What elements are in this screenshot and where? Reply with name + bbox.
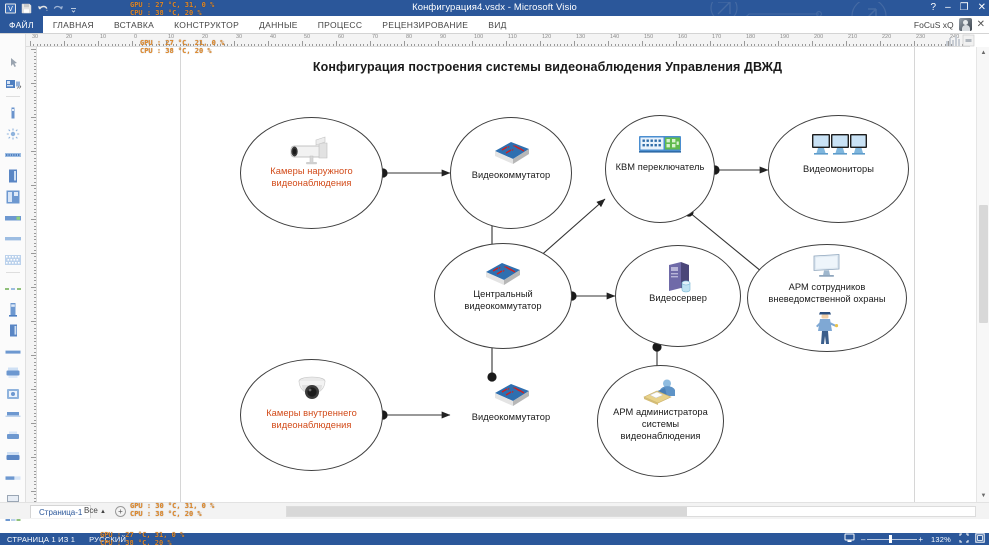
ruler-tick	[805, 44, 806, 47]
ruler-tick	[550, 44, 551, 47]
ruler-label: 230	[916, 34, 925, 40]
node-label-line2: видеонаблюдения	[240, 178, 383, 190]
ruler-tick	[34, 280, 37, 281]
ruler-tick	[656, 44, 657, 47]
ruler-tick	[503, 44, 504, 47]
stencil-item-switch-device[interactable]	[0, 207, 26, 228]
zoom-slider-knob[interactable]	[889, 535, 892, 543]
ruler-tick	[105, 44, 106, 47]
ruler-tick	[91, 44, 92, 47]
ruler-tick	[34, 69, 37, 70]
ruler-tick	[34, 124, 37, 125]
ruler-tick	[31, 355, 36, 356]
ruler-label: 50	[304, 34, 310, 40]
stencil-item-drive-bay[interactable]	[0, 341, 26, 362]
ruler-label: 40	[270, 34, 276, 40]
tab-process[interactable]: ПРОЦЕСС	[308, 16, 373, 33]
close-button[interactable]: ✕	[978, 1, 986, 14]
ruler-tick	[34, 345, 37, 346]
ruler-tick	[390, 44, 391, 47]
ruler-tick	[543, 44, 544, 47]
ruler-tick	[316, 44, 317, 47]
ruler-tick	[802, 44, 803, 47]
ruler-tick	[34, 318, 37, 319]
ruler-tick	[601, 44, 602, 47]
ruler-tick	[34, 90, 37, 91]
ruler-tick	[832, 44, 833, 47]
ruler-tick	[34, 260, 37, 261]
ruler-tick	[401, 44, 402, 47]
ruler-tick	[435, 44, 436, 47]
page-tab-1[interactable]: Страница-1	[30, 505, 91, 518]
ruler-tick	[428, 44, 429, 47]
ruler-tick	[707, 44, 708, 47]
ruler-tick	[894, 44, 895, 47]
ruler-tick	[34, 205, 37, 206]
ruler-tick	[761, 44, 762, 47]
node-label: Видеокоммутатор	[450, 170, 572, 182]
ruler-tick	[445, 44, 446, 47]
ruler-tick	[265, 44, 266, 47]
node-outdoor-cameras[interactable]: Камеры наружного видеонаблюдения	[240, 117, 383, 229]
ruler-tick	[95, 44, 96, 47]
ruler-tick	[241, 44, 242, 47]
node-indoor-cameras[interactable]: Камеры внутреннего видеонаблюдения	[240, 359, 383, 471]
ruler-tick	[227, 44, 228, 47]
dome-camera-icon	[289, 375, 335, 412]
ruler-tick	[713, 44, 714, 47]
ruler-tick	[594, 44, 595, 47]
rack-unit-icon	[5, 77, 21, 91]
ruler-tick	[234, 41, 235, 46]
scanner-icon	[5, 387, 21, 401]
ruler-label: 90	[440, 34, 446, 40]
ruler-tick	[747, 44, 748, 47]
ruler-tick	[34, 80, 37, 81]
stencil-item-modem[interactable]	[0, 467, 26, 488]
node-security-guard-workstation[interactable]: АРМ сотрудников вневедомственной охраны	[747, 244, 907, 352]
ruler-tick	[537, 44, 538, 47]
account-area: FoCuS xQ ✕	[914, 16, 985, 33]
ruler-tick	[897, 44, 898, 47]
ruler-tick	[34, 498, 37, 499]
ruler-tick	[34, 304, 37, 305]
page-count-label[interactable]: СТРАНИЦА 1 ИЗ 1	[0, 535, 82, 544]
ruler-tick	[547, 44, 548, 47]
ruler-tick	[911, 44, 912, 47]
ruler-tick	[34, 382, 37, 383]
ruler-tick	[34, 454, 37, 455]
stencil-item-pointer[interactable]	[0, 52, 26, 73]
ruler-tick	[826, 44, 827, 47]
ruler-tick	[683, 44, 684, 47]
ruler-tick	[917, 44, 918, 47]
minimize-button[interactable]: –	[945, 1, 951, 14]
ruler-tick	[458, 44, 459, 47]
stencil-item-plotter[interactable]	[0, 425, 26, 446]
ruler-tick	[921, 44, 922, 47]
ruler-tick	[567, 44, 568, 47]
switch-device-icon	[4, 213, 22, 223]
ruler-tick	[394, 44, 395, 47]
ruler-tick	[34, 464, 37, 465]
ruler-tick	[856, 44, 857, 47]
ruler-tick	[50, 44, 51, 47]
node-kvm-switch[interactable]: КВМ переключатель	[605, 115, 715, 223]
full-screen-icon[interactable]	[975, 533, 985, 545]
tab-view[interactable]: ВИД	[478, 16, 516, 33]
ruler-tick	[649, 44, 650, 47]
ruler-tick	[34, 314, 37, 315]
ruler-tick	[34, 195, 37, 196]
ruler-tick	[34, 335, 37, 336]
ruler-tick	[34, 328, 37, 329]
ruler-tick	[34, 284, 37, 285]
tab-insert[interactable]: ВСТАВКА	[104, 16, 164, 33]
stencil-item-copier[interactable]	[0, 446, 26, 467]
ruler-tick	[669, 44, 670, 47]
horizontal-scrollbar-thumb[interactable]	[287, 507, 687, 516]
ruler-tick	[887, 44, 888, 47]
ruler-label: 110	[508, 34, 517, 40]
all-pages-button[interactable]: Все ▲	[84, 506, 106, 515]
ruler-tick	[34, 406, 37, 407]
network-switch-icon	[481, 258, 525, 293]
ruler-tick	[367, 44, 368, 47]
ruler-tick	[261, 44, 262, 47]
ruler-tick	[268, 41, 269, 46]
ruler-tick	[71, 44, 72, 47]
ruler-tick	[61, 44, 62, 47]
ruler-tick	[836, 44, 837, 47]
ruler-tick	[914, 41, 915, 46]
ruler-tick	[441, 44, 442, 47]
ruler-tick	[571, 44, 572, 47]
stencil-item-rack-unit[interactable]	[0, 73, 26, 94]
ruler-label: 220	[882, 34, 891, 40]
stencil-item-ups[interactable]	[0, 299, 26, 320]
ruler-tick	[34, 433, 37, 434]
ruler-tick	[34, 365, 37, 366]
ruler-tick	[34, 263, 37, 264]
tab-home[interactable]: ГЛАВНАЯ	[43, 16, 104, 33]
ruler-tick	[931, 44, 932, 47]
guard-person-icon	[811, 308, 841, 349]
visio-window: V Конфигурация4.vsdx - Microsoft Visio ?…	[0, 0, 989, 545]
stencil-item-blade[interactable]	[0, 228, 26, 249]
scroll-up-arrow[interactable]: ▲	[977, 47, 989, 59]
ruler-tick	[34, 86, 37, 87]
ruler-tick	[557, 44, 558, 47]
ruler-tick	[574, 41, 575, 46]
ruler-tick	[411, 44, 412, 47]
ruler-tick	[31, 491, 36, 492]
zoom-slider[interactable]: – +	[861, 534, 923, 544]
window-controls: ? – ❐ ✕	[931, 1, 986, 14]
stencil-item-grid-panel[interactable]	[0, 249, 26, 270]
ruler-tick	[703, 44, 704, 47]
ruler-tick	[322, 44, 323, 47]
ruler-label: 140	[610, 34, 619, 40]
ruler-tick	[693, 44, 694, 47]
ruler-tick	[812, 41, 813, 46]
ruler-tick	[34, 460, 37, 461]
ruler-tick	[67, 44, 68, 47]
ruler-tick	[564, 44, 565, 47]
ruler-tick	[31, 117, 36, 118]
status-bar-right: – + 132%	[844, 533, 985, 545]
ruler-tick	[47, 44, 48, 47]
laptop-icon	[4, 410, 22, 419]
zoom-out-button[interactable]: –	[861, 535, 865, 544]
ruler-tick	[31, 423, 36, 424]
ribbon-close-icon[interactable]: ✕	[977, 19, 985, 30]
ruler-tick	[455, 44, 456, 47]
ruler-tick	[360, 44, 361, 47]
ruler-tick	[452, 44, 453, 47]
ruler-tick	[34, 338, 37, 339]
ruler-tick	[496, 44, 497, 47]
ruler-tick	[34, 297, 37, 298]
tab-design[interactable]: КОНСТРУКТОР	[164, 16, 249, 33]
ruler-tick	[584, 44, 585, 47]
ruler-tick	[129, 44, 130, 47]
ruler-tick	[768, 44, 769, 47]
ruler-tick	[652, 44, 653, 47]
ruler-tick	[839, 44, 840, 47]
ruler-tick	[792, 44, 793, 47]
node-video-switch-top[interactable]: Видеокоммутатор	[450, 117, 572, 229]
ruler-tick	[34, 114, 37, 115]
avatar[interactable]	[959, 18, 972, 31]
stencil-item-laptop[interactable]	[0, 404, 26, 425]
ruler-tick	[34, 161, 37, 162]
bullet-camera-icon	[288, 135, 336, 168]
drawing-canvas[interactable]: Конфигурация построения системы видеонаб…	[37, 47, 970, 502]
vertical-scrollbar-thumb[interactable]	[979, 205, 988, 323]
node-label: КВМ переключатель	[605, 162, 715, 174]
vertical-scrollbar[interactable]: ▲ ▼	[976, 47, 989, 502]
ruler-tick	[924, 44, 925, 47]
ruler-tick	[513, 44, 514, 47]
stencil-item-patch-panel[interactable]	[0, 144, 26, 165]
ruler-tick	[717, 44, 718, 47]
modem-icon	[4, 474, 22, 482]
add-page-button[interactable]: +	[115, 506, 126, 517]
ruler-tick	[78, 44, 79, 47]
ruler-tick	[591, 44, 592, 47]
ruler-tick	[686, 44, 687, 47]
restore-button[interactable]: ❐	[960, 1, 969, 14]
ruler-tick	[424, 44, 425, 47]
ruler-tick	[312, 44, 313, 47]
ruler-tick	[809, 44, 810, 47]
copier-icon	[5, 450, 21, 463]
ruler-tick	[883, 44, 884, 47]
ruler-tick	[329, 44, 330, 47]
node-label-line2: видеокоммутатор	[434, 301, 572, 313]
ruler-tick	[540, 41, 541, 46]
zoom-slider-track	[867, 539, 917, 540]
node-video-monitors[interactable]: Видеомониторы	[768, 115, 909, 223]
ruler-tick	[346, 44, 347, 47]
ruler-tick	[34, 375, 37, 376]
ruler-tick	[309, 44, 310, 47]
ruler-tick	[34, 440, 37, 441]
ruler-tick	[795, 44, 796, 47]
ruler-tick	[34, 437, 37, 438]
fit-page-icon[interactable]	[844, 533, 855, 545]
ruler-tick	[319, 44, 320, 47]
stencil-item-tower[interactable]	[0, 102, 26, 123]
stencil-item-wireless-hub[interactable]	[0, 123, 26, 144]
ruler-tick	[377, 44, 378, 47]
ribbon-tabs: ФАЙЛ ГЛАВНАЯ ВСТАВКА КОНСТРУКТОР ДАННЫЕ …	[0, 16, 517, 33]
ruler-tick	[34, 290, 37, 291]
server-tower-icon	[6, 168, 20, 184]
tab-data[interactable]: ДАННЫЕ	[249, 16, 308, 33]
ruler-tick	[34, 484, 37, 485]
ruler-tick	[696, 44, 697, 47]
horizontal-scrollbar[interactable]	[286, 506, 976, 517]
tab-file[interactable]: ФАЙЛ	[0, 16, 43, 33]
grid-panel-icon	[4, 253, 22, 267]
user-name-label[interactable]: FoCuS xQ	[914, 20, 954, 30]
stencil-item-scanner[interactable]	[0, 383, 26, 404]
scroll-down-arrow[interactable]: ▼	[977, 490, 989, 502]
ruler-tick	[625, 44, 626, 47]
ruler-tick	[608, 41, 609, 46]
ruler-tick	[34, 144, 37, 145]
ruler-tick	[509, 44, 510, 47]
node-label: Видеосервер	[615, 293, 741, 305]
ruler-tick	[34, 103, 37, 104]
ruler-tick	[34, 277, 37, 278]
ruler-tick	[34, 386, 37, 387]
ruler-tick	[907, 44, 908, 47]
ruler-tick	[730, 44, 731, 47]
stencil-item-rack-cabinet[interactable]	[0, 186, 26, 207]
ruler-tick	[115, 44, 116, 47]
ruler-tick	[31, 83, 36, 84]
ruler-tick	[469, 44, 470, 47]
ruler-tick	[30, 41, 31, 46]
ruler-tick	[34, 93, 37, 94]
ruler-tick	[530, 44, 531, 47]
ruler-tick	[31, 219, 36, 220]
ruler-tick	[271, 44, 272, 47]
fit-to-window-icon[interactable]	[959, 533, 969, 545]
ruler-tick	[866, 44, 867, 47]
osd-overlay-ruler: GPU : 27 °C, 21, 0 % CPU : 38 °C, 20 %	[140, 40, 224, 55]
ruler-tick	[720, 44, 721, 47]
ruler-tick	[34, 348, 37, 349]
ruler-tick	[34, 426, 37, 427]
ruler-tick	[31, 287, 36, 288]
stencil-item-pc-case[interactable]	[0, 320, 26, 341]
node-label-line2: системы	[597, 419, 724, 431]
ruler-tick	[414, 44, 415, 47]
ruler-tick	[34, 352, 37, 353]
ruler-tick	[34, 175, 37, 176]
node-video-switch-bottom[interactable]: Видеокоммутатор	[450, 359, 572, 471]
node-label: Видеомониторы	[768, 164, 909, 176]
ruler-tick	[526, 44, 527, 47]
stencil-item-cable-run[interactable]	[0, 278, 26, 299]
ruler-tick	[244, 44, 245, 47]
ruler-tick	[928, 44, 929, 47]
shape-data-mini-icon[interactable]	[945, 34, 975, 47]
ruler-tick	[34, 182, 37, 183]
zoom-level-label[interactable]: 132%	[929, 535, 953, 544]
ruler-tick	[880, 41, 881, 46]
pointer-icon	[6, 56, 20, 70]
ruler-label: 60	[338, 34, 344, 40]
ruler-tick	[34, 311, 37, 312]
ruler-tick	[336, 41, 337, 46]
stencil-list	[0, 52, 26, 545]
ruler-tick	[499, 44, 500, 47]
ruler-tick	[843, 44, 844, 47]
ruler-label: 130	[576, 34, 585, 40]
ruler-tick	[853, 44, 854, 47]
plotter-icon	[5, 430, 21, 442]
ruler-tick	[577, 44, 578, 47]
ruler-tick	[788, 44, 789, 47]
ruler-tick	[343, 44, 344, 47]
ruler-tick	[118, 44, 119, 47]
ruler-tick	[645, 44, 646, 47]
ruler-tick	[34, 331, 37, 332]
ruler-tick	[34, 120, 37, 121]
ruler-tick	[710, 41, 711, 46]
ruler-tick	[588, 44, 589, 47]
ruler-tick	[231, 44, 232, 47]
ruler-tick	[751, 44, 752, 47]
node-label-line1: АРМ сотрудников	[747, 282, 907, 294]
node-central-switch[interactable]: Центральный видеокоммутатор	[434, 243, 572, 349]
ruler-tick	[727, 44, 728, 47]
ruler-tick	[34, 236, 37, 237]
ruler-tick	[44, 44, 45, 47]
ruler-tick	[34, 141, 37, 142]
ruler-tick	[288, 44, 289, 47]
ruler-tick	[863, 44, 864, 47]
node-video-server[interactable]: Видеосервер	[615, 245, 741, 347]
ruler-tick	[34, 420, 37, 421]
stencil-item-server-tower[interactable]	[0, 165, 26, 186]
ruler-tick	[282, 44, 283, 47]
ruler-tick	[700, 44, 701, 47]
ruler-tick	[34, 494, 37, 495]
stencil-item-printer[interactable]	[0, 362, 26, 383]
tab-review[interactable]: РЕЦЕНЗИРОВАНИЕ	[372, 16, 478, 33]
node-admin-workstation[interactable]: АРМ администратора системы видеонаблюден…	[597, 365, 724, 477]
ruler-tick	[533, 44, 534, 47]
ruler-tick	[486, 44, 487, 47]
ruler-tick	[34, 209, 37, 210]
ruler-tick	[431, 44, 432, 47]
ruler-tick	[350, 44, 351, 47]
ruler-tick	[34, 178, 37, 179]
zoom-in-button[interactable]: +	[918, 535, 923, 544]
ruler-tick	[622, 44, 623, 47]
help-button[interactable]: ?	[931, 1, 937, 14]
vertical-ruler[interactable]	[26, 47, 37, 502]
node-label-line1: Камеры внутреннего	[240, 408, 383, 420]
ruler-tick	[938, 44, 939, 47]
ruler-tick	[775, 44, 776, 47]
